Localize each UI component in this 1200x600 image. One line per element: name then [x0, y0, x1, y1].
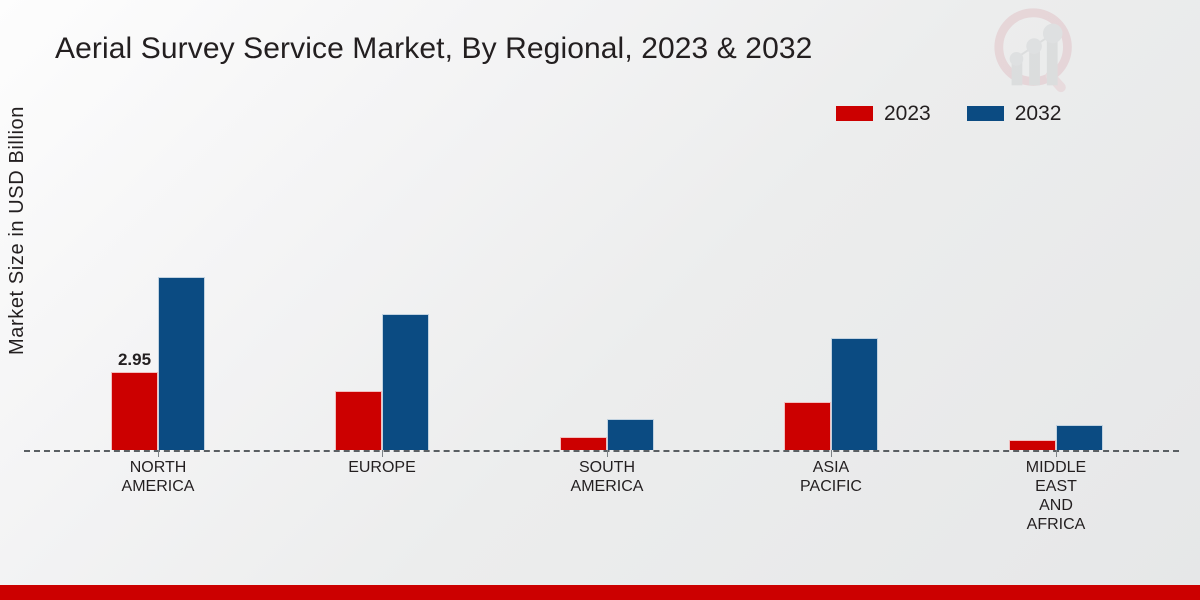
x-axis-label-2: SOUTH AMERICA	[527, 458, 687, 496]
chart-canvas: Aerial Survey Service Market, By Regiona…	[0, 0, 1200, 600]
x-axis-label-1: EUROPE	[302, 458, 462, 477]
plot-area: 2.95NORTH AMERICAEUROPESOUTH AMERICAASIA…	[0, 0, 1200, 450]
bar-2032-3	[831, 338, 878, 450]
bar-2032-4	[1056, 425, 1103, 450]
bar-2023-3	[784, 402, 831, 450]
bar-2023-0	[111, 372, 158, 450]
x-axis-tick-0	[158, 450, 159, 457]
bar-2032-0	[158, 277, 205, 450]
bar-2023-1	[335, 391, 382, 450]
bar-2023-2	[560, 437, 607, 450]
bar-2023-4	[1009, 440, 1056, 450]
x-axis-label-4: MIDDLE EAST AND AFRICA	[976, 458, 1136, 534]
x-axis-tick-1	[382, 450, 383, 457]
bar-2032-2	[607, 419, 654, 450]
x-axis-tick-3	[831, 450, 832, 457]
footer-accent-bar	[0, 585, 1200, 600]
x-axis-label-0: NORTH AMERICA	[78, 458, 238, 496]
bar-2032-1	[382, 314, 429, 450]
x-axis-tick-2	[607, 450, 608, 457]
x-axis-tick-4	[1056, 450, 1057, 457]
x-axis-label-3: ASIA PACIFIC	[751, 458, 911, 496]
bar-data-label: 2.95	[105, 350, 164, 370]
